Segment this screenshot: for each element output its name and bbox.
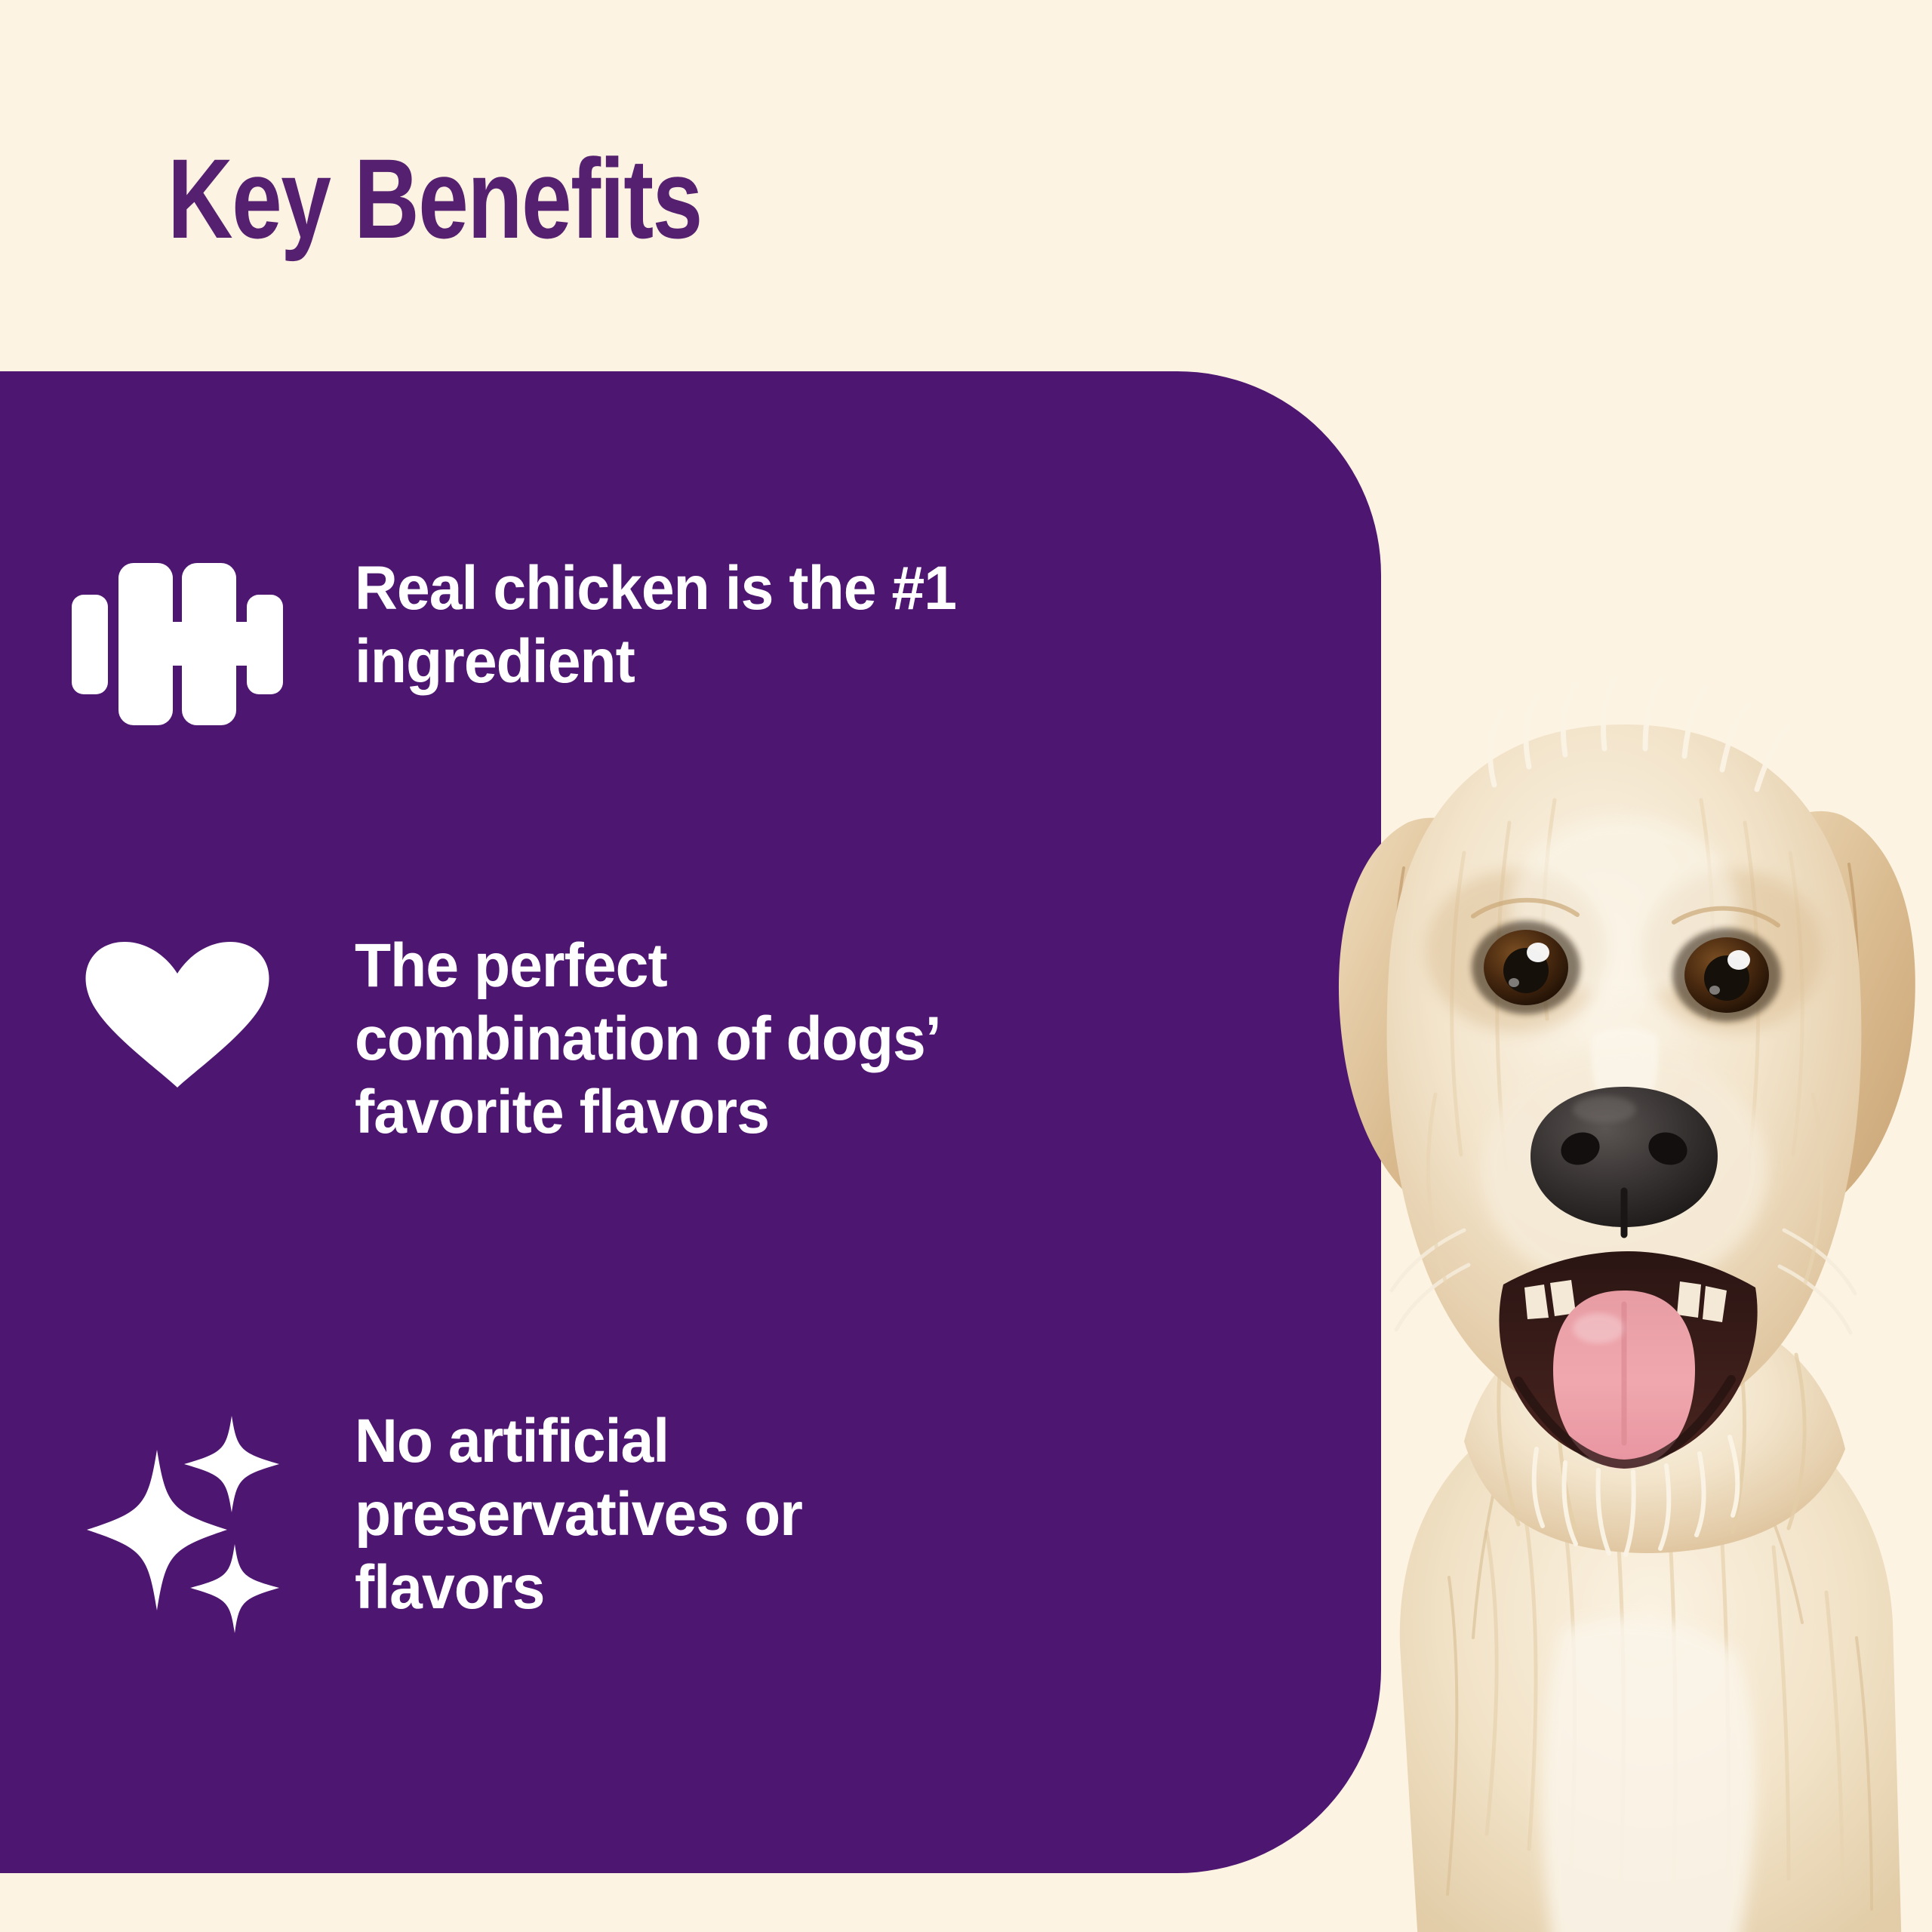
benefit-text-1: Real chicken is the #1 ingredient — [355, 552, 1007, 699]
benefit-item-1: Real chicken is the #1 ingredient — [0, 552, 1207, 725]
benefits-graphic: Key Benefits Real chicken is the #1 ingr… — [0, 0, 1932, 1932]
page-title: Key Benefits — [168, 142, 702, 255]
sparkles-icon — [0, 1405, 355, 1635]
benefit-text-2: The perfect combination of dogs’ favorit… — [355, 930, 1007, 1149]
benefit-text-3: No artificial preservatives or flavors — [355, 1405, 1007, 1624]
benefits-list: Real chicken is the #1 ingredient The pe… — [0, 371, 1381, 1873]
dumbbell-icon — [0, 552, 355, 725]
dog-photo — [1238, 626, 1932, 1932]
heart-icon — [0, 930, 355, 1088]
benefit-item-3: No artificial preservatives or flavors — [0, 1405, 1207, 1635]
benefit-item-2: The perfect combination of dogs’ favorit… — [0, 930, 1207, 1149]
